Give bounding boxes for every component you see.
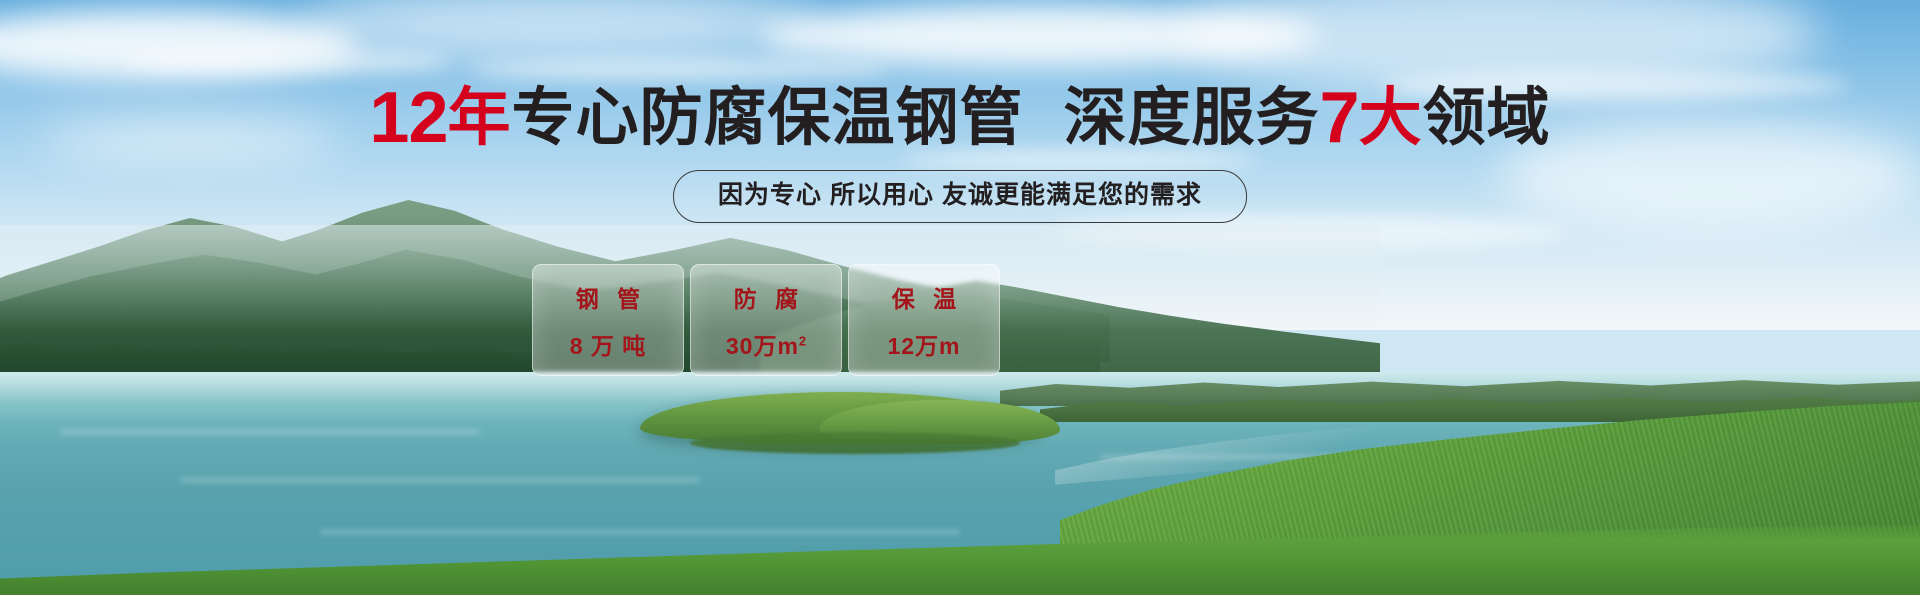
headline-years-unit: 年	[448, 83, 512, 153]
grass-islet-shadow	[690, 432, 1020, 454]
stat-label: 保 温	[886, 280, 962, 314]
headline-fields-number: 7	[1320, 78, 1359, 158]
water-streak	[180, 478, 700, 482]
headline-service-text: 深度服务	[1064, 83, 1320, 153]
headline: 12年专心防腐保温钢管深度服务7大领域	[0, 82, 1920, 154]
headline-fields-text: 领域	[1423, 83, 1551, 153]
hero-banner: 12年专心防腐保温钢管深度服务7大领域 因为专心 所以用心 友诚更能满足您的需求…	[0, 0, 1920, 595]
headline-fields-unit: 大	[1359, 83, 1423, 153]
subtitle-pill: 因为专心 所以用心 友诚更能满足您的需求	[673, 170, 1247, 223]
stat-value-superscript: 2	[799, 333, 806, 348]
stat-box-anticorrosion[interactable]: 防 腐 30万m2	[690, 264, 842, 376]
headline-years-number: 12	[369, 78, 447, 158]
water-streak	[320, 530, 960, 534]
stat-value-main: 30万m	[726, 333, 799, 359]
stat-value: 12万m	[887, 327, 960, 361]
water-streak	[60, 430, 480, 434]
stat-label: 钢 管	[570, 280, 646, 314]
stat-value-main: 8 万 吨	[570, 333, 647, 359]
stat-box-group: 钢 管 8 万 吨 防 腐 30万m2 保 温 12万m	[532, 264, 1000, 376]
stat-label: 防 腐	[728, 280, 804, 314]
cloud-shape	[470, 58, 890, 80]
stat-box-steel-pipe[interactable]: 钢 管 8 万 吨	[532, 264, 684, 376]
stat-box-insulation[interactable]: 保 温 12万m	[848, 264, 1000, 376]
stat-value: 30万m2	[726, 327, 806, 361]
headline-primary-text: 专心防腐保温钢管	[512, 83, 1024, 153]
stat-value-main: 12万m	[887, 333, 960, 359]
stat-value: 8 万 吨	[570, 327, 647, 361]
